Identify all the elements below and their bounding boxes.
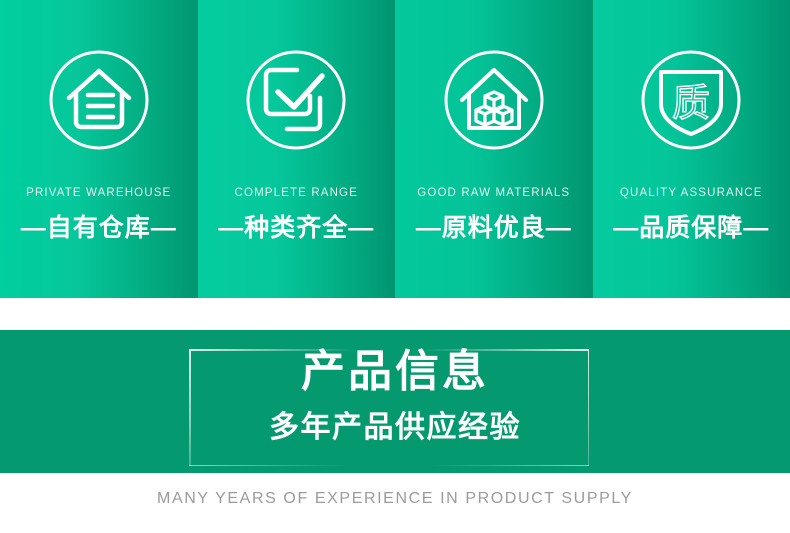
feature-panel-complete-range[interactable]: COMPLETE RANGE —种类齐全— <box>198 0 396 298</box>
feature-panel-good-raw-materials[interactable]: GOOD RAW MATERIALS —原料优良— <box>395 0 593 298</box>
feature-panel-quality-assurance[interactable]: 质 QUALITY ASSURANCE —品质保障— <box>593 0 790 298</box>
svg-text:质: 质 <box>672 81 710 125</box>
footer-tagline: MANY YEARS OF EXPERIENCE IN PRODUCT SUPP… <box>0 490 790 508</box>
feature-label-cn: —自有仓库— <box>21 208 177 244</box>
feature-label-cn: —品质保障— <box>613 208 769 244</box>
feature-strip: PRIVATE WAREHOUSE —自有仓库— COMPLETE RANGE … <box>0 0 790 298</box>
feature-panel-private-warehouse[interactable]: PRIVATE WAREHOUSE —自有仓库— <box>0 0 198 298</box>
feature-label-en: GOOD RAW MATERIALS <box>417 187 570 199</box>
warehouse-house-icon <box>45 46 153 154</box>
white-separator <box>0 298 790 330</box>
house-materials-boxes-icon <box>440 46 548 154</box>
checklist-check-icon <box>242 46 350 154</box>
shield-quality-icon: 质 <box>637 46 745 154</box>
feature-label-cn: —种类齐全— <box>218 208 374 244</box>
promo-banner: PRIVATE WAREHOUSE —自有仓库— COMPLETE RANGE … <box>0 0 790 533</box>
feature-label-cn: —原料优良— <box>416 208 572 244</box>
feature-label-en: PRIVATE WAREHOUSE <box>26 187 171 199</box>
feature-label-en: QUALITY ASSURANCE <box>620 187 763 199</box>
feature-label-en: COMPLETE RANGE <box>235 187 358 199</box>
page-subtitle: 多年产品供应经验 <box>0 411 790 444</box>
frame-bottom-line <box>189 465 589 467</box>
page-title: 产品信息 <box>0 348 790 396</box>
product-info-band: 产品信息 多年产品供应经验 <box>0 330 790 473</box>
